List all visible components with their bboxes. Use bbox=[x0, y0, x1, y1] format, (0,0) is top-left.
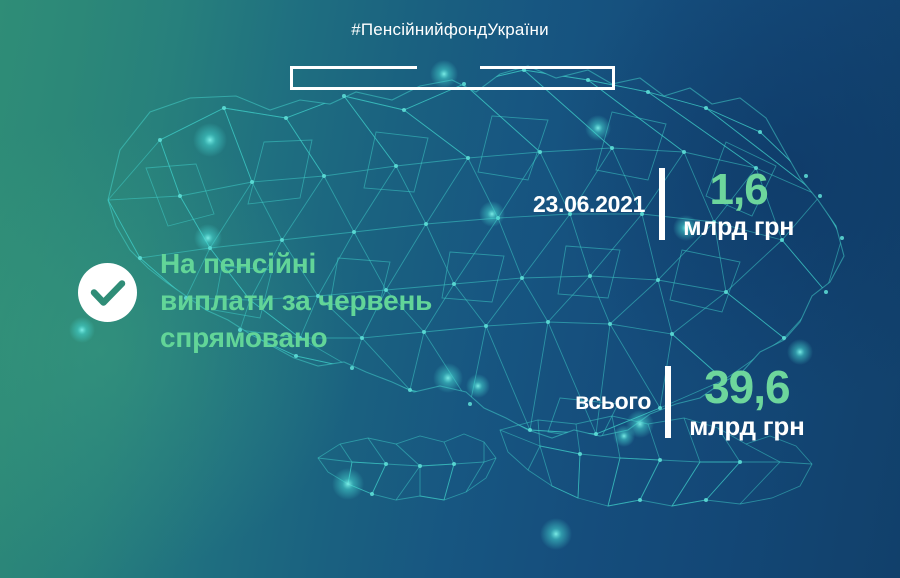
headline-line-1: На пенсійні bbox=[160, 246, 500, 283]
stat-total: всього 39,6 млрд грн bbox=[575, 364, 805, 439]
pension-fund-logo-frame bbox=[290, 66, 615, 90]
hashtag-text: #ПенсійнийфондУкраїни bbox=[0, 20, 900, 40]
logo-frame-top-edge-right bbox=[480, 66, 615, 69]
check-circle-icon bbox=[78, 263, 137, 322]
logo-frame-top-edge-left bbox=[290, 66, 417, 69]
stat-total-label: всього bbox=[575, 388, 651, 415]
headline: На пенсійні виплати за червень спрямован… bbox=[160, 246, 500, 357]
stat-daily-label: 23.06.2021 bbox=[533, 191, 645, 218]
stat-daily-divider bbox=[659, 168, 665, 240]
stat-daily-unit: млрд грн bbox=[683, 215, 794, 240]
stat-total-unit: млрд грн bbox=[689, 413, 805, 439]
stat-total-amount: 39,6 млрд грн bbox=[689, 364, 805, 439]
infographic-canvas: #ПенсійнийфондУкраїни На пенсійні виплат… bbox=[0, 0, 900, 578]
stat-total-divider bbox=[665, 366, 671, 438]
stat-daily: 23.06.2021 1,6 млрд грн bbox=[533, 168, 794, 240]
logo-frame-bottom-edge bbox=[290, 87, 615, 90]
stat-daily-amount: 1,6 млрд грн bbox=[683, 168, 794, 240]
headline-line-2: виплати за червень bbox=[160, 283, 500, 320]
stat-total-value: 39,6 bbox=[689, 364, 805, 410]
headline-line-3: спрямовано bbox=[160, 320, 500, 357]
stat-daily-value: 1,6 bbox=[683, 168, 794, 212]
